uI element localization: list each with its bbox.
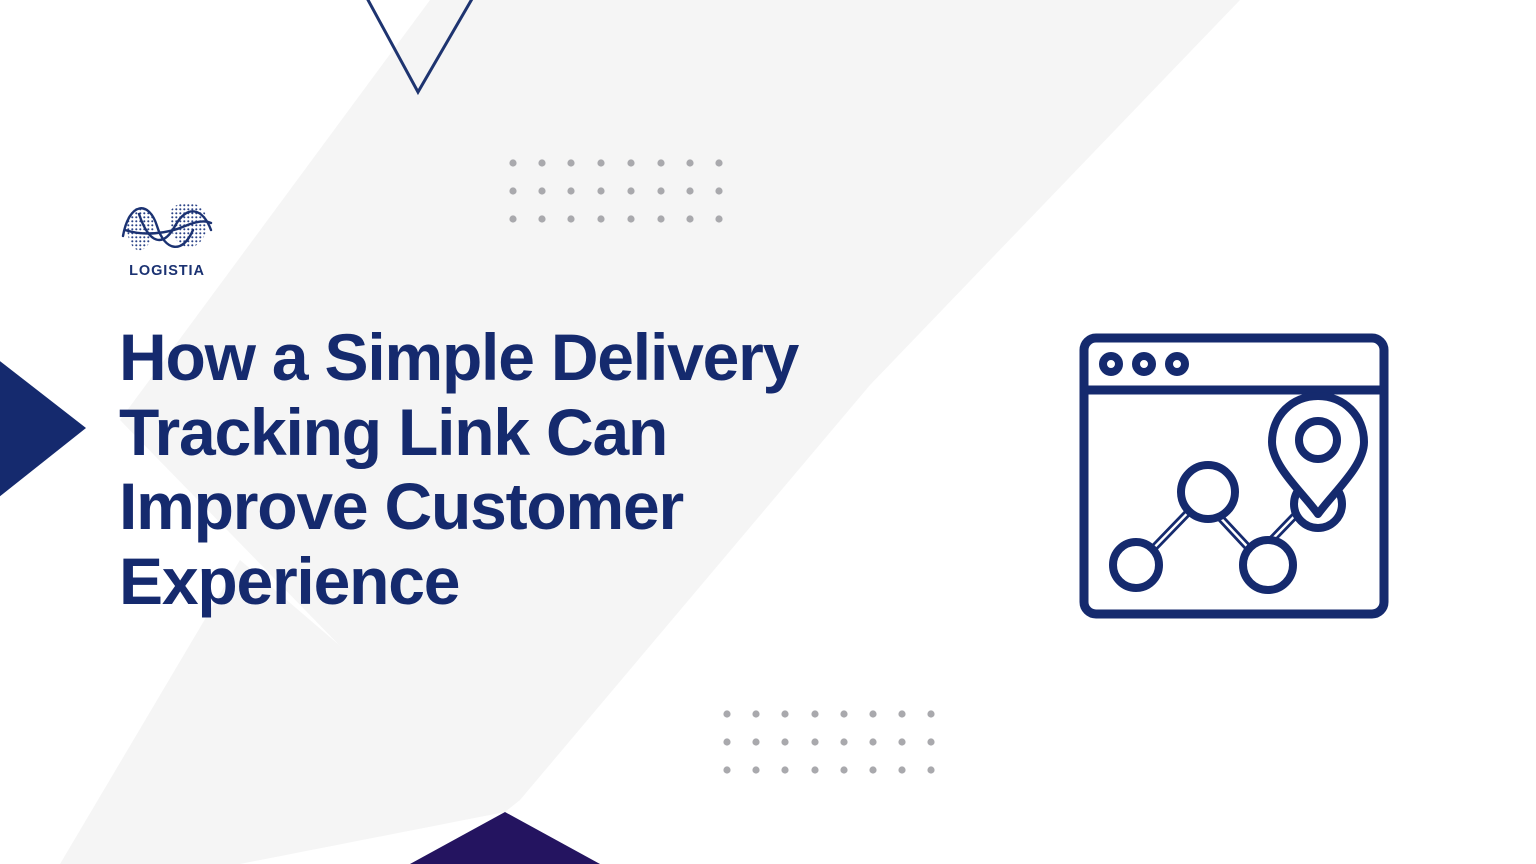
dot-grid-bottom <box>723 710 934 773</box>
left-navy-triangle <box>0 330 86 528</box>
browser-dot-3 <box>1169 356 1185 372</box>
map-pin-icon <box>1272 396 1364 514</box>
hero-banner: LOGISTIA How a Simple Delivery Tracking … <box>0 0 1536 864</box>
top-chevron-outline <box>330 0 512 92</box>
delivery-tracking-browser-illustration <box>1078 332 1390 620</box>
dot-grid-top <box>509 159 722 222</box>
brand-wordmark: LOGISTIA <box>119 264 215 279</box>
browser-dot-1 <box>1103 356 1119 372</box>
page-title: How a Simple Delivery Tracking Link Can … <box>119 320 909 618</box>
route-node-1 <box>1113 542 1159 588</box>
wave-halftone-logo-icon <box>119 196 215 258</box>
route-node-2 <box>1181 465 1235 519</box>
bottom-purple-triangle <box>410 812 600 864</box>
route-node-3 <box>1243 540 1293 590</box>
browser-traffic-dots <box>1103 356 1185 372</box>
brand-logo[interactable]: LOGISTIA <box>119 196 223 288</box>
browser-dot-2 <box>1136 356 1152 372</box>
